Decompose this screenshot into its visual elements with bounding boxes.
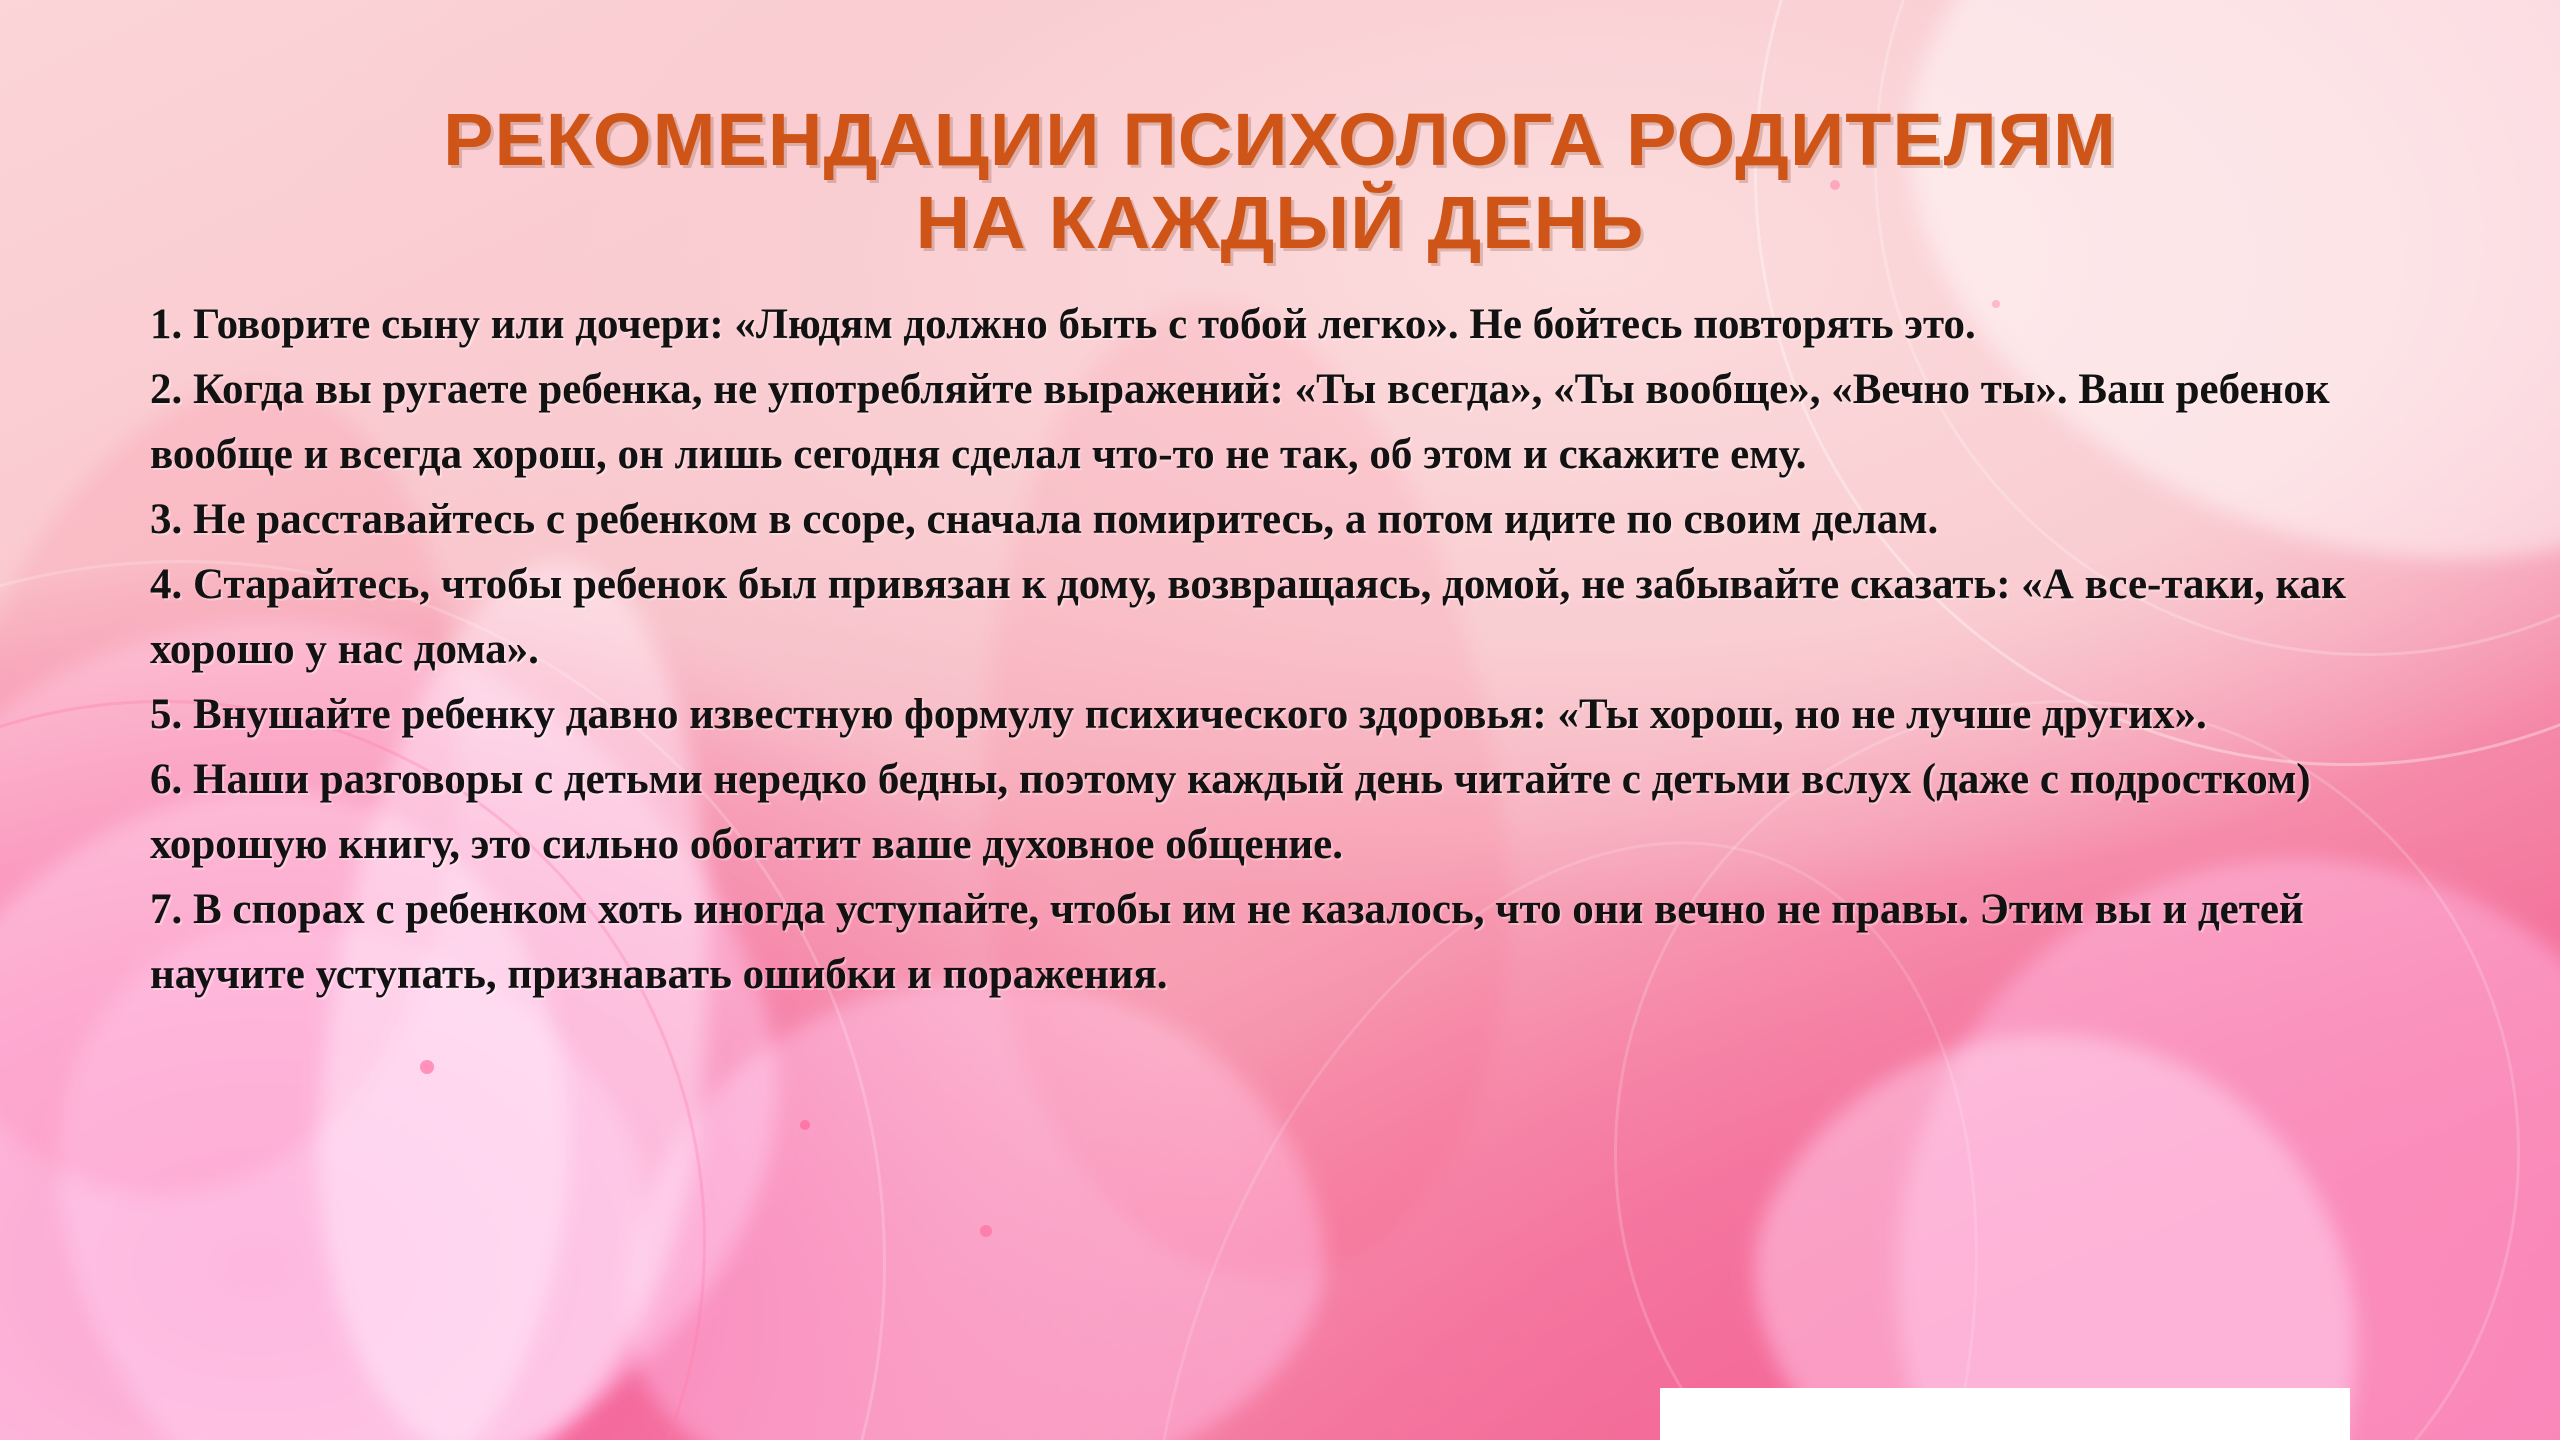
list-item: 4. Старайтесь, чтобы ребенок был привяза… — [150, 552, 2440, 682]
slide-content: РЕКОМЕНДАЦИИ ПСИХОЛОГА РОДИТЕЛЯМ НА КАЖД… — [0, 0, 2560, 1440]
list-item: 3. Не расставайтесь с ребенком в ссоре, … — [150, 487, 2440, 552]
page-title-line-1: РЕКОМЕНДАЦИИ ПСИХОЛОГА РОДИТЕЛЯМ — [0, 98, 2560, 182]
list-item: 5. Внушайте ребенку давно известную форм… — [150, 682, 2440, 747]
recommendations-list: 1. Говорите сыну или дочери: «Людям долж… — [150, 292, 2440, 1007]
footer-white-box — [1660, 1388, 2350, 1440]
list-item: 2. Когда вы ругаете ребенка, не употребл… — [150, 357, 2440, 487]
page-title: РЕКОМЕНДАЦИИ ПСИХОЛОГА РОДИТЕЛЯМ НА КАЖД… — [0, 98, 2560, 265]
list-item: 1. Говорите сыну или дочери: «Людям долж… — [150, 292, 2440, 357]
list-item: 7. В спорах с ребенком хоть иногда уступ… — [150, 877, 2440, 1007]
list-item: 6. Наши разговоры с детьми нередко бедны… — [150, 747, 2440, 877]
page-title-line-2: НА КАЖДЫЙ ДЕНЬ — [0, 181, 2560, 265]
